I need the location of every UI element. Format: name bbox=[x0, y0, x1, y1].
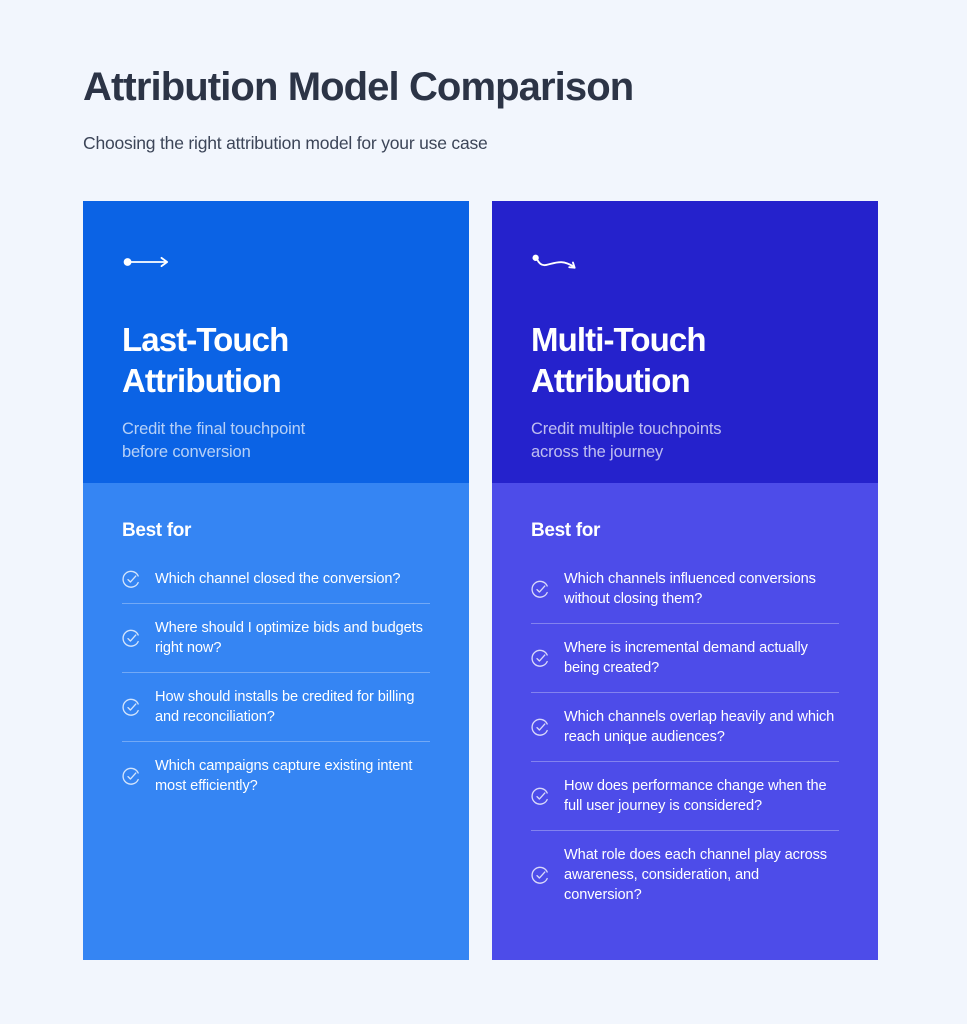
list-item-text: How does performance change when the ful… bbox=[564, 776, 839, 816]
check-circle-icon bbox=[531, 580, 550, 599]
card-multi-touch[interactable]: Multi-Touch Attribution Credit multiple … bbox=[492, 201, 878, 960]
check-circle-icon bbox=[122, 698, 141, 717]
list-item-text: Where is incremental demand actually bei… bbox=[564, 638, 839, 678]
list-item[interactable]: Which channels influenced conversions wi… bbox=[531, 555, 839, 624]
card-last-touch[interactable]: Last-Touch Attribution Credit the final … bbox=[83, 201, 469, 960]
check-circle-icon bbox=[122, 570, 141, 589]
page-title: Attribution Model Comparison bbox=[83, 62, 903, 112]
list-item-text: Which campaigns capture existing intent … bbox=[155, 756, 430, 796]
list-item[interactable]: Where is incremental demand actually bei… bbox=[531, 624, 839, 693]
list-item[interactable]: Which campaigns capture existing intent … bbox=[122, 742, 430, 810]
check-circle-icon bbox=[531, 649, 550, 668]
list-item-text: Which channels influenced conversions wi… bbox=[564, 569, 839, 609]
list-item-text: Where should I optimize bids and budgets… bbox=[155, 618, 430, 658]
card-last-touch-body: Best for Which channel closed the conver… bbox=[83, 483, 469, 960]
card-multi-touch-header: Multi-Touch Attribution Credit multiple … bbox=[492, 201, 878, 483]
card-multi-touch-title: Multi-Touch Attribution bbox=[531, 319, 839, 401]
best-for-label: Best for bbox=[122, 519, 430, 543]
list-item-text: How should installs be credited for bill… bbox=[155, 687, 430, 727]
card-last-touch-tagline: Credit the final touchpoint before conve… bbox=[122, 418, 430, 464]
card-last-touch-header: Last-Touch Attribution Credit the final … bbox=[83, 201, 469, 483]
list-item[interactable]: How should installs be credited for bill… bbox=[122, 673, 430, 742]
best-for-list: Which channel closed the conversion? Whe… bbox=[122, 555, 430, 810]
list-item-text: What role does each channel play across … bbox=[564, 845, 839, 905]
list-item[interactable]: Which channel closed the conversion? bbox=[122, 555, 430, 604]
list-item-text: Which channel closed the conversion? bbox=[155, 569, 400, 589]
page-header: Attribution Model Comparison Choosing th… bbox=[83, 62, 903, 155]
list-item[interactable]: Which channels overlap heavily and which… bbox=[531, 693, 839, 762]
page-subtitle: Choosing the right attribution model for… bbox=[83, 131, 903, 155]
best-for-label: Best for bbox=[531, 519, 839, 543]
list-item-text: Which channels overlap heavily and which… bbox=[564, 707, 839, 747]
list-item[interactable]: How does performance change when the ful… bbox=[531, 762, 839, 831]
check-circle-icon bbox=[122, 629, 141, 648]
comparison-cards: Last-Touch Attribution Credit the final … bbox=[83, 201, 879, 960]
check-circle-icon bbox=[531, 787, 550, 806]
card-multi-touch-body: Best for Which channels influenced conve… bbox=[492, 483, 878, 960]
check-circle-icon bbox=[122, 767, 141, 786]
comparison-page: Attribution Model Comparison Choosing th… bbox=[0, 0, 967, 1024]
straight-arrow-icon bbox=[122, 249, 174, 275]
winding-arrow-icon bbox=[531, 249, 583, 275]
list-item[interactable]: Where should I optimize bids and budgets… bbox=[122, 604, 430, 673]
check-circle-icon bbox=[531, 866, 550, 885]
list-item[interactable]: What role does each channel play across … bbox=[531, 831, 839, 919]
best-for-list: Which channels influenced conversions wi… bbox=[531, 555, 839, 919]
card-last-touch-title: Last-Touch Attribution bbox=[122, 319, 430, 401]
check-circle-icon bbox=[531, 718, 550, 737]
card-multi-touch-tagline: Credit multiple touchpoints across the j… bbox=[531, 418, 839, 464]
